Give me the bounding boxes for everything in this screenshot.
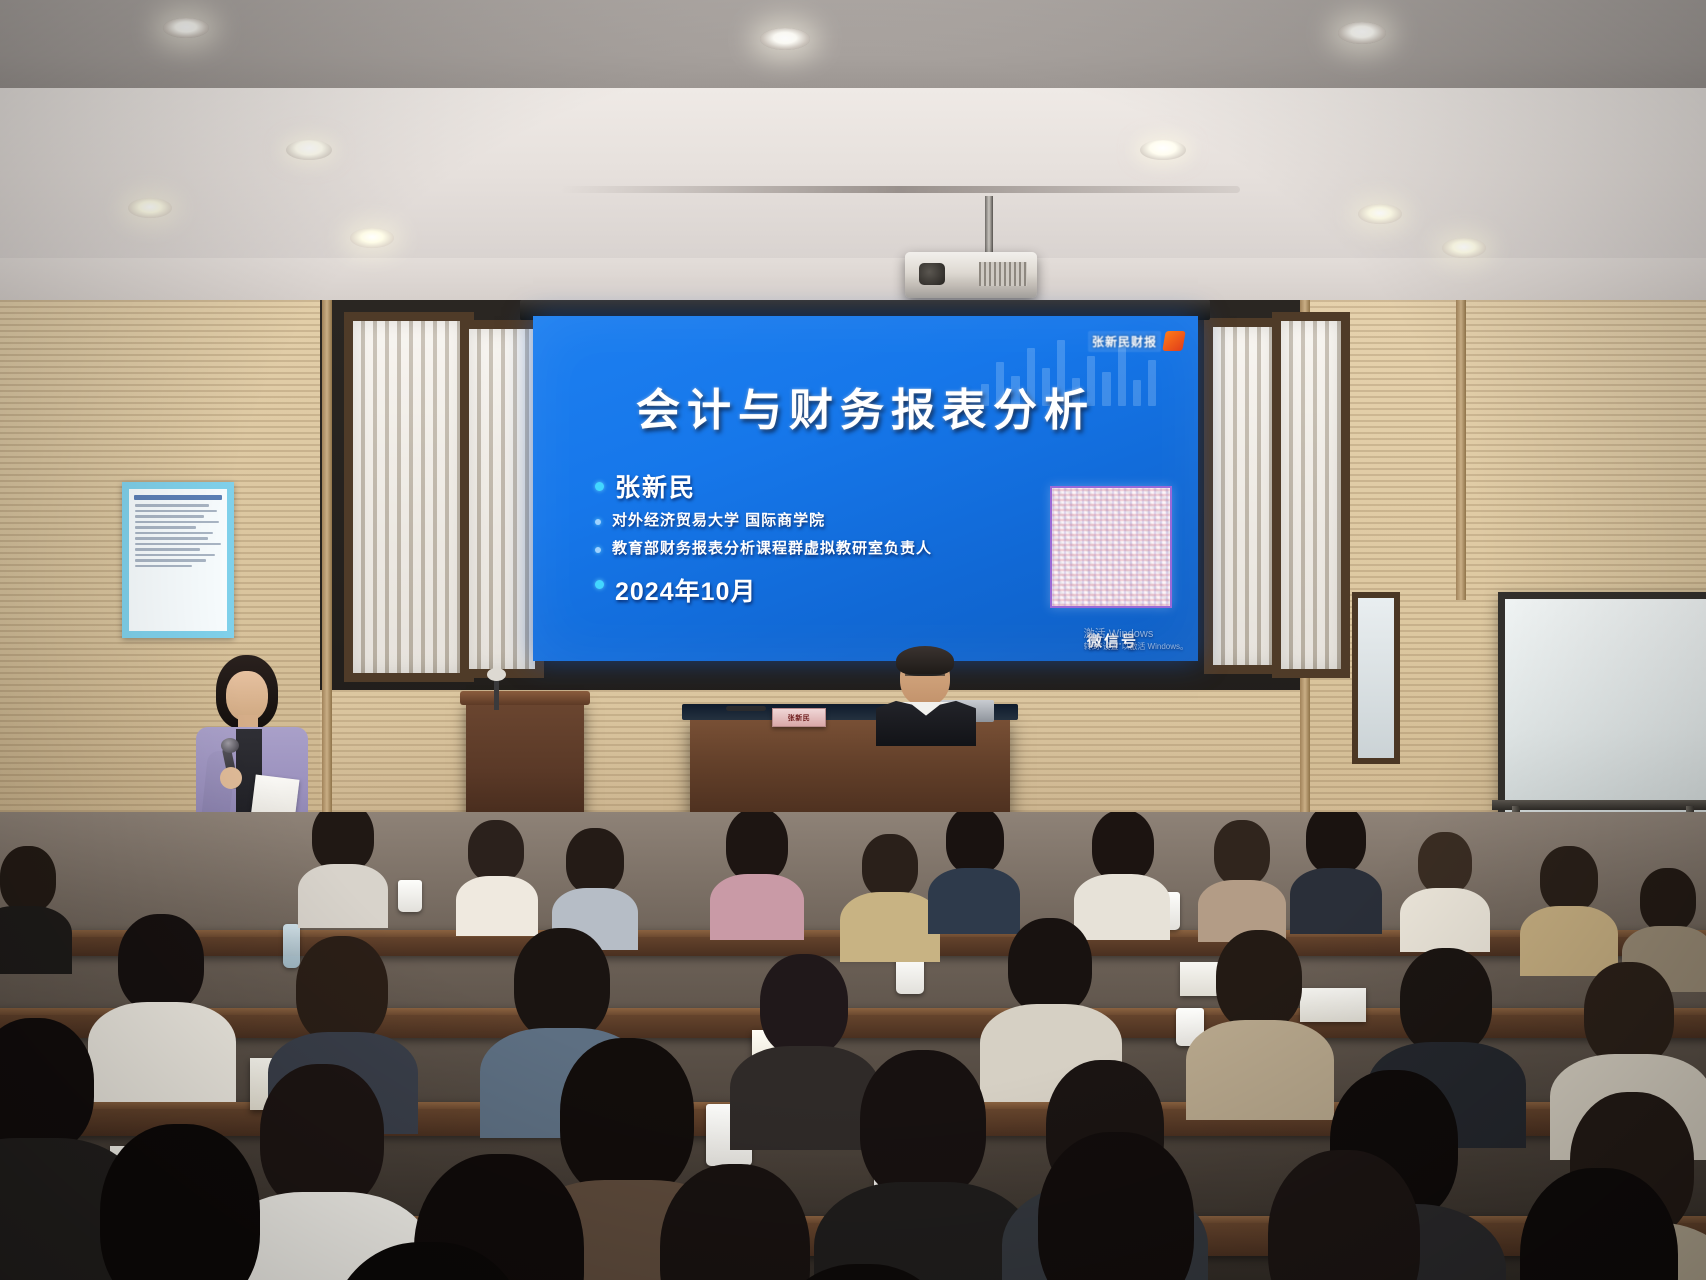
panel-blinds (1281, 321, 1341, 669)
paper-cup (398, 880, 422, 912)
panel-blinds (1213, 327, 1275, 665)
poster-text-line (135, 510, 217, 513)
person-head (660, 1164, 810, 1280)
panel-blinds (469, 329, 535, 669)
person-body (1290, 868, 1382, 934)
person-hand (220, 767, 242, 789)
person-head (1418, 832, 1472, 894)
slide-logo-mark-icon (1162, 331, 1186, 351)
person-body (928, 868, 1020, 934)
person-head (100, 1124, 260, 1280)
ceiling-downlight-icon (286, 140, 332, 160)
person-head (1216, 930, 1302, 1030)
person-head (514, 928, 610, 1040)
person-head (1640, 868, 1696, 932)
person-head (862, 834, 918, 898)
person-head (1092, 812, 1154, 882)
lectern-top (460, 691, 590, 705)
person-face (226, 671, 268, 721)
ceiling-spotlight-icon (1358, 204, 1402, 224)
lectern (466, 700, 584, 830)
microphone-head-icon (221, 738, 239, 753)
ceiling-downlight-icon (1140, 140, 1186, 160)
slide-bullet-row: 教育部财务报表分析课程群虚拟教研室负责人 (595, 540, 1015, 559)
ceiling-spotlight-icon (128, 198, 172, 218)
acoustic-panel-left (344, 312, 474, 682)
person-body (730, 1046, 880, 1150)
poster-text-line (135, 537, 208, 540)
ceiling-projector-icon (905, 252, 1037, 298)
wall-seam (1456, 300, 1466, 600)
person-body (0, 906, 72, 974)
slide-bullet-list: 张新民 对外经济贸易大学 国际商学院 教育部财务报表分析课程群虚拟教研室负责人 … (595, 474, 1015, 617)
person-body (456, 876, 538, 936)
person-head (118, 914, 204, 1012)
projector-lens-icon (919, 263, 945, 285)
qr-code-image (1050, 486, 1172, 608)
person-head (260, 1064, 384, 1210)
person-head (1214, 820, 1270, 886)
poster-text-line (135, 515, 204, 518)
booklet (1300, 988, 1366, 1022)
lecture-hall-photo: 张新民财报 会计与财务报表分析 张新民 对外经济贸易大学 国际商学院 教育部财务… (0, 0, 1706, 1280)
person-head (566, 828, 624, 894)
panel-blinds (353, 321, 465, 673)
person-head (860, 1050, 986, 1200)
windows-activation-watermark: 激活 Windows 转到"设置"以激活 Windows。 (1084, 627, 1188, 653)
glasses-icon (905, 674, 945, 684)
person-body (1074, 874, 1170, 940)
slide-bullet-row: 对外经济贸易大学 国际商学院 (595, 512, 1015, 531)
acoustic-panel-right (1272, 312, 1350, 678)
poster-text-line (135, 526, 196, 529)
person-body (840, 892, 940, 962)
ceiling-upper-slab (0, 0, 1706, 92)
person-head (946, 812, 1004, 874)
bullet-dot-icon (595, 482, 604, 491)
poster-text-line (135, 521, 219, 524)
person-body (88, 1002, 236, 1102)
ceiling-downlight-icon (760, 28, 810, 50)
person-hair (896, 646, 954, 676)
person-head (1038, 1132, 1194, 1280)
person-head (468, 820, 524, 882)
person-head (1584, 962, 1674, 1066)
person-body (1186, 1020, 1334, 1120)
person-head (1540, 846, 1598, 912)
person-head (0, 846, 56, 912)
watermark-line-2: 转到"设置"以激活 Windows。 (1084, 642, 1188, 653)
projector-vent (979, 262, 1027, 286)
bullet-dot-icon (595, 580, 604, 589)
wall-notice-poster (122, 482, 234, 638)
framed-picture (1352, 592, 1400, 764)
water-bottle (283, 924, 300, 968)
slide-bullet-text: 张新民 (615, 474, 696, 503)
slide-logo-text: 张新民财报 (1088, 331, 1161, 352)
wall-seam (322, 300, 332, 880)
ceiling-spotlight-icon (1442, 238, 1486, 258)
projection-screen: 张新民财报 会计与财务报表分析 张新民 对外经济贸易大学 国际商学院 教育部财务… (533, 316, 1198, 661)
lectern-microphone-icon (487, 668, 506, 681)
bullet-dot-icon (595, 519, 601, 525)
poster-text-line (135, 543, 221, 546)
qr-code-pattern (1052, 488, 1170, 606)
poster-text-line (135, 548, 200, 551)
poster-text-line (135, 554, 215, 557)
slide-bullet-text: 教育部财务报表分析课程群虚拟教研室负责人 (612, 540, 932, 559)
lectern-microphone-stem (494, 676, 499, 710)
person-head (296, 936, 388, 1044)
person-head (1306, 812, 1366, 874)
watermark-line-1: 激活 Windows (1084, 627, 1188, 642)
acoustic-panel-left-inner (460, 320, 544, 678)
person-body (710, 874, 804, 940)
whiteboard (1498, 592, 1706, 822)
poster-title-bar (134, 495, 222, 500)
person-head (1008, 918, 1092, 1014)
person-body (1520, 906, 1618, 976)
poster-text-line (135, 504, 209, 507)
person-head (560, 1038, 694, 1198)
person-head (312, 812, 374, 872)
slide-logo: 张新民财报 (1088, 328, 1184, 354)
slide-bullet-text: 对外经济贸易大学 国际商学院 (612, 512, 825, 531)
ceiling-spotlight-icon (350, 228, 394, 248)
audience-area: 校 (0, 812, 1706, 1280)
person-head (1400, 948, 1492, 1054)
person-head (760, 954, 848, 1056)
ceiling-downlight-icon (1338, 22, 1386, 44)
seated-moderator (874, 650, 978, 742)
poster-text-line (135, 532, 213, 535)
slide-bullet-row: 2024年10月 (595, 572, 1015, 608)
slide-title: 会计与财务报表分析 (533, 374, 1198, 438)
whiteboard-pen-tray (1492, 800, 1706, 810)
person-body (298, 864, 388, 928)
poster-text-line (135, 559, 206, 562)
poster-text-line (135, 565, 192, 568)
bullet-dot-icon (595, 547, 601, 553)
slide-bullet-row: 张新民 (595, 474, 1015, 503)
table-microphone-icon (726, 706, 766, 711)
person-head (0, 1018, 94, 1154)
slide-bullet-text: 2024年10月 (615, 572, 756, 608)
ceiling-downlight-icon (163, 18, 209, 38)
person-head (726, 812, 788, 882)
nameplate: 张新民 (772, 708, 826, 727)
person-body (1400, 888, 1490, 952)
